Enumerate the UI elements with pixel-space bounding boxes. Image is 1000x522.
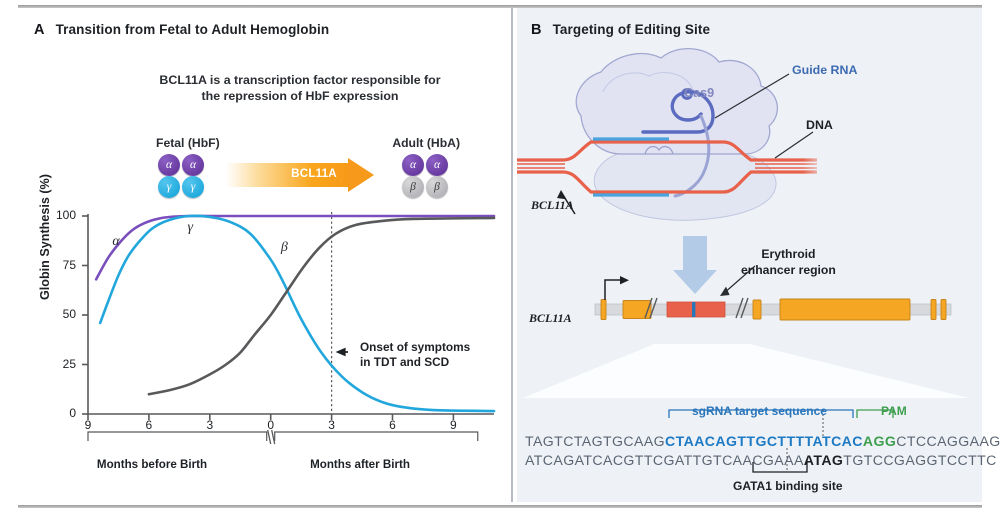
x-tick-label: 0 xyxy=(261,418,281,432)
panel-b-header: B Targeting of Editing Site xyxy=(531,22,710,38)
panel-a-caption: BCL11A is a transcription factor respons… xyxy=(150,72,450,105)
y-tick-label: 75 xyxy=(46,258,76,272)
guide-rna-label: Guide RNA xyxy=(792,63,857,77)
curve-label-gamma: γ xyxy=(187,220,193,236)
x-tick-label: 6 xyxy=(383,418,403,432)
sequence-segment-plain: CTCCAGGAAG xyxy=(896,433,1000,449)
sequence-segment-sgrna: CTAACAGTTGCTTTTATCAC xyxy=(665,433,863,449)
alpha-globin-icon: α xyxy=(158,154,180,176)
panel-a-title: Transition from Fetal to Adult Hemoglobi… xyxy=(56,22,330,37)
sequence-callout-graphics xyxy=(517,344,982,494)
axis-caption-before-birth: Months before Birth xyxy=(62,458,242,471)
sequence-segment-pam: AGG xyxy=(863,433,896,449)
globin-synthesis-chart: Globin Synthesis (%) 0255075100 9630369 … xyxy=(42,204,502,486)
x-tick-label: 6 xyxy=(139,418,159,432)
y-tick-label: 0 xyxy=(46,406,76,420)
axis-caption-after-birth: Months after Birth xyxy=(270,458,450,471)
beta-globin-icon: β xyxy=(426,176,448,198)
panel-a: A Transition from Fetal to Adult Hemoglo… xyxy=(18,8,513,502)
gamma-globin-icon: γ xyxy=(158,176,180,198)
alpha-globin-icon: α xyxy=(426,154,448,176)
bcl11a-strand-label: BCL11A xyxy=(531,198,574,213)
beta-globin-icon: β xyxy=(402,176,424,198)
fetal-hbf-label: Fetal (HbF) xyxy=(156,136,220,150)
panel-a-header: A Transition from Fetal to Adult Hemoglo… xyxy=(34,22,329,38)
gamma-globin-icon: γ xyxy=(182,176,204,198)
dna-sequence-top-strand: TAGTCTAGTGCAAGCTAACAGTTGCTTTTATCACAGGCTC… xyxy=(525,433,1000,449)
adult-hba-label: Adult (HbA) xyxy=(392,136,460,150)
adult-globin-group: α α β β xyxy=(402,154,458,198)
cas9-label: Cas9 xyxy=(684,86,714,100)
y-tick-label: 50 xyxy=(46,307,76,321)
x-tick-label: 9 xyxy=(78,418,98,432)
sequence-segment-plain: TAGTCTAGTGCAAG xyxy=(525,433,665,449)
figure-root: A Transition from Fetal to Adult Hemoglo… xyxy=(0,0,1000,522)
bcl11a-arrow-label: BCL11A xyxy=(274,167,354,180)
panel-a-letter: A xyxy=(34,22,45,38)
gata1-binding-site-label: GATA1 binding site xyxy=(733,479,843,493)
x-tick-label: 3 xyxy=(322,418,342,432)
sequence-segment-bold: ATAG xyxy=(804,452,844,468)
panel-b-title: Targeting of Editing Site xyxy=(553,22,711,37)
sgrna-target-label: sgRNA target sequence xyxy=(692,404,827,418)
sequence-segment-plain: ATCAGATCACGTTCGATTGTCAACGAAA xyxy=(525,452,804,468)
alpha-globin-icon: α xyxy=(182,154,204,176)
fetal-globin-group: α α γ γ xyxy=(158,154,214,198)
pam-label: PAM xyxy=(881,404,907,418)
x-tick-label: 9 xyxy=(443,418,463,432)
bcl11a-arrow: BCL11A xyxy=(226,158,378,192)
alpha-globin-icon: α xyxy=(402,154,424,176)
panel-b: B Targeting of Editing Site Guide RNA Ca… xyxy=(517,8,982,502)
x-tick-label: 3 xyxy=(200,418,220,432)
y-tick-label: 25 xyxy=(46,357,76,371)
bcl11a-gene-label: BCL11A xyxy=(529,311,572,326)
dna-sequence-bottom-strand: ATCAGATCACGTTCGATTGTCAACGAAAATAGTGTCCGAG… xyxy=(525,452,997,468)
onset-annotation: Onset of symptomsin TDT and SCD xyxy=(360,340,470,371)
panel-b-letter: B xyxy=(531,22,542,38)
cas9-complex-illustration xyxy=(517,42,982,242)
curve-label-alpha: α xyxy=(112,234,119,250)
sequence-segment-plain: TGTCCGAGGTCCTTC xyxy=(843,452,997,468)
y-tick-label: 100 xyxy=(46,208,76,222)
y-axis-label: Globin Synthesis (%) xyxy=(38,174,52,300)
hemoglobin-transition-schematic: Fetal (HbF) Adult (HbA) α α γ γ BCL11A α… xyxy=(150,136,460,198)
figure-rule-bottom xyxy=(18,505,982,508)
curve-label-beta: β xyxy=(281,240,288,256)
dna-label: DNA xyxy=(806,118,833,132)
erythroid-enhancer-label: Erythroidenhancer region xyxy=(741,247,836,278)
